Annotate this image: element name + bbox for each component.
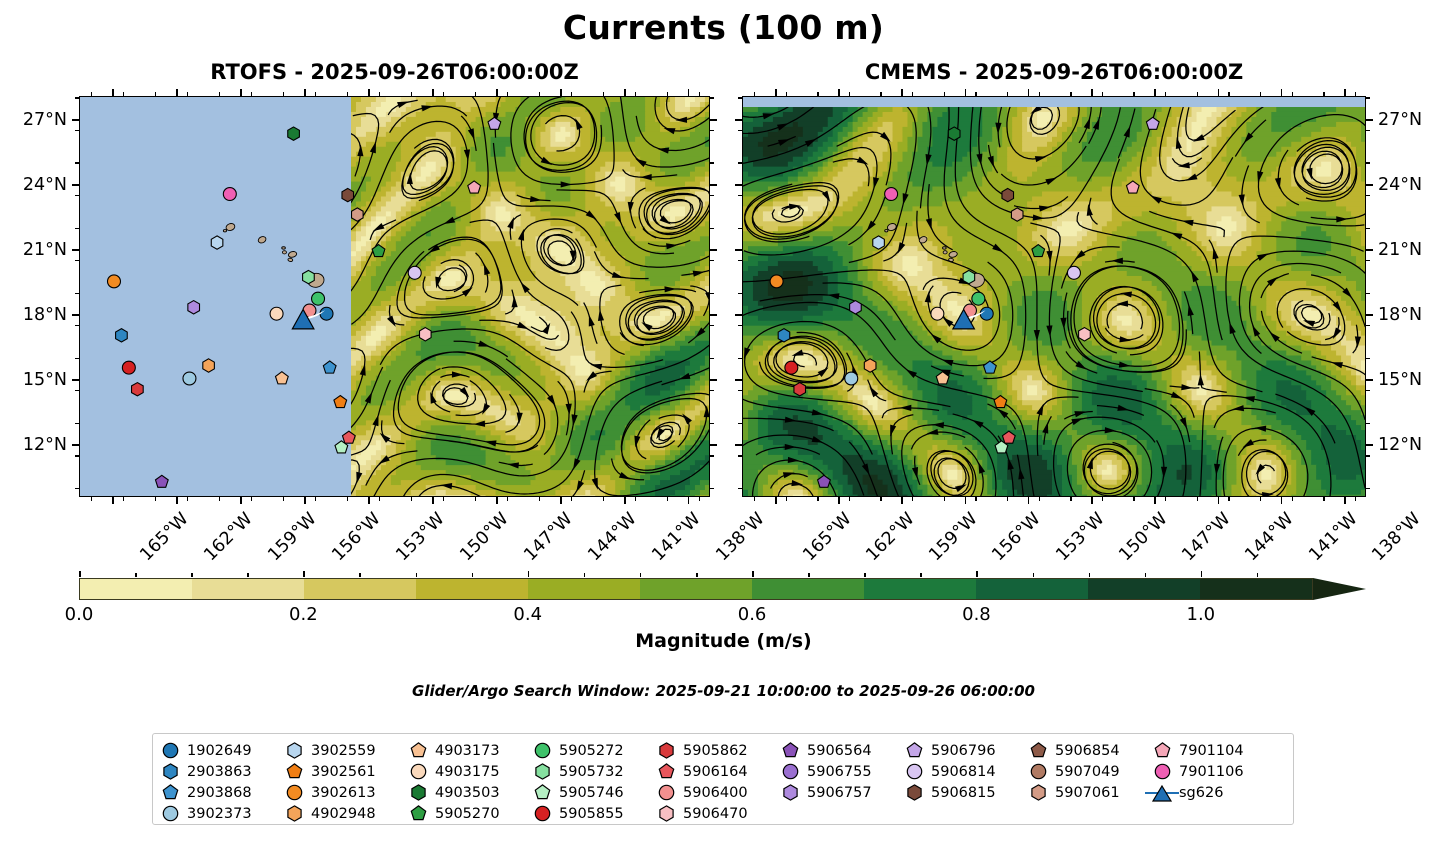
float-legend[interactable]: 1902649290386329038683902373390255939025…: [152, 733, 1294, 825]
y-tick-minor: [75, 260, 79, 261]
argo-marker[interactable]: [1002, 188, 1014, 201]
x-tick-minor: [507, 92, 508, 96]
argo-marker[interactable]: [778, 329, 790, 342]
argo-marker[interactable]: [188, 301, 200, 314]
argo-marker[interactable]: [1067, 266, 1080, 279]
legend-marker-icon: [277, 804, 311, 823]
legend-marker-icon: [897, 762, 931, 781]
y-tick-minor: [710, 195, 714, 196]
legend-label: 4902948: [311, 806, 376, 822]
legend-entry[interactable]: 5906854: [1021, 740, 1145, 761]
legend-entry[interactable]: 2903868: [153, 782, 277, 803]
x-tick-minor: [1039, 497, 1040, 501]
y-tick-major: [710, 184, 717, 186]
argo-marker[interactable]: [342, 431, 355, 443]
argo-marker[interactable]: [183, 372, 196, 385]
legend-entry[interactable]: 5906796: [897, 740, 1021, 761]
colorbar-tick-label: 1.0: [1186, 604, 1215, 625]
argo-marker[interactable]: [1079, 328, 1091, 341]
colorbar-tick-minor: [640, 573, 642, 577]
colorbar-tick-minor: [696, 573, 698, 577]
legend-column: 590679659068145906815: [897, 740, 1021, 824]
argo-marker[interactable]: [794, 383, 806, 396]
x-tick-minor: [635, 497, 636, 501]
legend-label: 2903868: [187, 785, 252, 801]
y-tick-minor: [75, 195, 79, 196]
argo-marker[interactable]: [972, 292, 985, 305]
y-tick-minor: [738, 195, 742, 196]
legend-entry[interactable]: 5906814: [897, 761, 1021, 782]
argo-marker[interactable]: [275, 372, 288, 384]
legend-entry[interactable]: 3902373: [153, 803, 277, 824]
y-tick-minor: [710, 358, 714, 359]
y-tick-minor: [75, 455, 79, 456]
x-tick-minor: [539, 92, 540, 96]
argo-marker[interactable]: [303, 270, 315, 283]
x-tick-major: [1091, 497, 1093, 504]
legend-marker-icon: [649, 783, 683, 802]
legend-entry[interactable]: 5905855: [525, 803, 649, 824]
legend-marker-icon: [773, 741, 807, 760]
x-tick-major: [240, 89, 242, 96]
legend-entry[interactable]: 3902561: [277, 761, 401, 782]
legend-marker-icon: [401, 804, 435, 823]
y-tick-label: 21°N: [1378, 240, 1422, 260]
legend-label: 5905862: [683, 743, 748, 759]
x-tick-minor: [1355, 497, 1356, 501]
x-tick-minor: [667, 92, 668, 96]
y-tick-minor: [710, 455, 714, 456]
argo-marker[interactable]: [785, 361, 798, 374]
x-tick-minor: [699, 497, 700, 501]
legend-label: 3902559: [311, 743, 376, 759]
x-tick-minor: [1102, 92, 1103, 96]
argo-marker[interactable]: [211, 236, 223, 249]
legend-entry[interactable]: 5905270: [401, 803, 525, 824]
y-tick-minor: [738, 293, 742, 294]
y-tick-minor: [738, 260, 742, 261]
legend-entry[interactable]: 2903863: [153, 761, 277, 782]
legend-column: 590685459070495907061: [1021, 740, 1145, 824]
y-tick-minor: [1366, 455, 1370, 456]
legend-marker-icon: [525, 804, 559, 823]
argo-marker[interactable]: [984, 361, 997, 373]
legend-label: 5906470: [683, 806, 748, 822]
legend-label: 5906814: [931, 764, 996, 780]
map-panel-cmems[interactable]: [742, 96, 1366, 497]
y-tick-minor: [738, 325, 742, 326]
x-tick-label: 162°W: [200, 509, 256, 565]
x-tick-label: 144°W: [584, 509, 640, 565]
colorbar-tick-minor: [808, 573, 810, 577]
x-tick-label: 165°W: [799, 509, 855, 565]
legend-entry[interactable]: 5906470: [649, 803, 773, 824]
legend-marker-icon: [277, 762, 311, 781]
y-tick-minor: [738, 423, 742, 424]
legend-marker-icon: [153, 783, 187, 802]
legend-label: 4903503: [435, 785, 500, 801]
y-tick-major: [710, 314, 717, 316]
x-tick-minor: [443, 497, 444, 501]
x-tick-minor: [283, 497, 284, 501]
x-tick-minor: [411, 92, 412, 96]
argo-marker[interactable]: [994, 396, 1007, 408]
x-tick-label: 144°W: [1242, 509, 1298, 565]
y-tick-major: [1366, 444, 1373, 446]
legend-marker-icon: [649, 762, 683, 781]
argo-marker[interactable]: [132, 383, 144, 396]
legend-column: 5905272590573259057465905855: [525, 740, 649, 824]
argo-marker[interactable]: [885, 188, 898, 201]
legend-label: 5905732: [559, 764, 624, 780]
legend-label: 4903175: [435, 764, 500, 780]
legend-entry[interactable]: 4903503: [401, 782, 525, 803]
map-panel-rtofs[interactable]: [79, 96, 710, 497]
argo-marker[interactable]: [312, 292, 325, 305]
legend-marker-icon: [153, 762, 187, 781]
legend-marker-icon: [897, 741, 931, 760]
x-tick-minor: [283, 92, 284, 96]
x-tick-minor: [1260, 497, 1261, 501]
legend-marker-icon: [525, 741, 559, 760]
argo-marker[interactable]: [488, 117, 501, 129]
y-tick-major: [1366, 379, 1373, 381]
y-tick-label: 27°N: [1378, 110, 1422, 130]
argo-marker[interactable]: [1032, 245, 1045, 257]
argo-marker[interactable]: [420, 328, 432, 341]
x-tick-minor: [667, 497, 668, 501]
legend-marker-icon: [1021, 741, 1055, 760]
colorbar-tick: [1201, 571, 1203, 577]
y-tick-minor: [1366, 293, 1370, 294]
legend-column: 79011047901106sg626: [1145, 740, 1271, 824]
colorbar-tick-minor: [864, 573, 866, 577]
figure-root: Currents (100 m) RTOFS - 2025-09-26T06:0…: [0, 0, 1447, 863]
legend-entry[interactable]: 5905746: [525, 782, 649, 803]
y-tick-minor: [710, 260, 714, 261]
legend-entry[interactable]: 5905272: [525, 740, 649, 761]
legend-entry[interactable]: 3902559: [277, 740, 401, 761]
colorbar-band: [304, 579, 416, 599]
y-tick-minor: [710, 293, 714, 294]
colorbar-tick-minor: [1145, 573, 1147, 577]
x-tick-minor: [1102, 497, 1103, 501]
legend-label: 3902373: [187, 806, 252, 822]
legend-entry[interactable]: 5907049: [1021, 761, 1145, 782]
colorbar-band: [864, 579, 976, 599]
y-tick-minor: [1366, 97, 1370, 98]
argo-marker[interactable]: [845, 372, 858, 385]
colorbar-band: [528, 579, 640, 599]
y-tick-label: 21°N: [0, 240, 67, 260]
legend-marker-icon: [649, 804, 683, 823]
argo-marker[interactable]: [936, 372, 949, 384]
x-tick-major: [965, 497, 967, 504]
y-tick-minor: [710, 228, 714, 229]
legend-label: 3902561: [311, 764, 376, 780]
y-tick-major: [735, 314, 742, 316]
argo-marker[interactable]: [963, 270, 975, 283]
argo-marker[interactable]: [980, 307, 993, 320]
x-tick-minor: [849, 92, 850, 96]
x-tick-minor: [1355, 92, 1356, 96]
x-tick-minor: [635, 92, 636, 96]
colorbar-tick-label: 0.4: [513, 604, 542, 625]
x-tick-label: 138°W: [1368, 509, 1424, 565]
x-tick-label: 159°W: [264, 509, 320, 565]
x-tick-major: [560, 497, 562, 504]
argo-marker[interactable]: [931, 307, 944, 320]
x-tick-major: [368, 497, 370, 504]
colorbar-body: [79, 578, 1313, 600]
legend-entry[interactable]: 5906815: [897, 782, 1021, 803]
legend-entry[interactable]: 5906564: [773, 740, 897, 761]
x-tick-major: [1028, 89, 1030, 96]
y-tick-label: 24°N: [0, 175, 67, 195]
y-tick-minor: [75, 358, 79, 359]
argo-marker[interactable]: [408, 266, 421, 279]
argo-marker[interactable]: [108, 275, 121, 288]
x-tick-minor: [603, 92, 604, 96]
legend-entry[interactable]: 7901104: [1145, 740, 1271, 761]
x-tick-minor: [944, 92, 945, 96]
colorbar-tick-minor: [191, 573, 193, 577]
x-tick-minor: [1292, 92, 1293, 96]
x-tick-minor: [1228, 497, 1229, 501]
y-tick-major: [72, 249, 79, 251]
argo-marker[interactable]: [1126, 181, 1139, 193]
y-tick-minor: [738, 390, 742, 391]
argo-marker[interactable]: [770, 275, 783, 288]
y-tick-minor: [1366, 488, 1370, 489]
y-tick-major: [72, 119, 79, 121]
colorbar-tick: [752, 571, 754, 577]
x-tick-major: [965, 89, 967, 96]
argo-marker[interactable]: [468, 181, 481, 193]
legend-label: 5907049: [1055, 764, 1120, 780]
y-tick-minor: [75, 325, 79, 326]
x-tick-major: [1028, 497, 1030, 504]
x-tick-major: [1281, 497, 1283, 504]
legend-entry[interactable]: 5905732: [525, 761, 649, 782]
x-tick-label: 159°W: [926, 509, 982, 565]
x-tick-major: [901, 89, 903, 96]
legend-label: 5906755: [807, 764, 872, 780]
y-tick-major: [710, 249, 717, 251]
legend-label: 5907061: [1055, 785, 1120, 801]
glider-track-icon: [1145, 784, 1179, 802]
argo-marker[interactable]: [223, 188, 236, 201]
colorbar-tick-minor: [247, 573, 249, 577]
legend-label: 5905746: [559, 785, 624, 801]
x-tick-major: [176, 497, 178, 504]
x-tick-minor: [1165, 92, 1166, 96]
legend-entry[interactable]: 5906400: [649, 782, 773, 803]
legend-column: 4903173490317549035035905270: [401, 740, 525, 824]
legend-entry[interactable]: 3902613: [277, 782, 401, 803]
y-tick-minor: [75, 488, 79, 489]
x-tick-major: [112, 89, 114, 96]
legend-entry[interactable]: sg626: [1145, 782, 1271, 803]
y-tick-major: [72, 379, 79, 381]
argo-marker[interactable]: [323, 361, 336, 373]
x-tick-minor: [880, 92, 881, 96]
x-tick-minor: [1323, 92, 1324, 96]
colorbar-tick-minor: [359, 573, 361, 577]
colorbar-tick: [79, 571, 81, 577]
marker-overlay-cmems: [743, 97, 1365, 496]
argo-marker[interactable]: [1146, 117, 1159, 129]
argo-marker[interactable]: [320, 307, 333, 320]
argo-marker[interactable]: [948, 127, 960, 140]
legend-entry[interactable]: 1902649: [153, 740, 277, 761]
page-title: Currents (100 m): [0, 8, 1447, 47]
x-tick-major: [1281, 89, 1283, 96]
x-tick-minor: [443, 92, 444, 96]
x-tick-minor: [507, 497, 508, 501]
y-tick-minor: [710, 130, 714, 131]
legend-marker-icon: [401, 783, 435, 802]
legend-entry[interactable]: 5906757: [773, 782, 897, 803]
x-tick-major: [112, 497, 114, 504]
legend-entry[interactable]: 5906755: [773, 761, 897, 782]
x-tick-minor: [315, 92, 316, 96]
x-tick-major: [176, 89, 178, 96]
x-tick-minor: [1260, 92, 1261, 96]
legend-marker-icon: [525, 762, 559, 781]
legend-label: 7901106: [1179, 764, 1244, 780]
colorbar[interactable]: 0.00.20.40.60.81.0: [79, 578, 1366, 600]
argo-marker[interactable]: [334, 396, 347, 408]
colorbar-tick-minor: [1257, 573, 1259, 577]
colorbar-tick-minor: [135, 573, 137, 577]
x-tick-minor: [571, 497, 572, 501]
y-tick-minor: [738, 130, 742, 131]
argo-marker[interactable]: [352, 208, 364, 221]
legend-label: 5906164: [683, 764, 748, 780]
x-tick-major: [304, 89, 306, 96]
x-tick-minor: [155, 92, 156, 96]
y-tick-major: [1366, 119, 1373, 121]
y-tick-major: [735, 379, 742, 381]
colorbar-band: [192, 579, 304, 599]
y-tick-minor: [1366, 195, 1370, 196]
x-tick-minor: [1228, 92, 1229, 96]
y-tick-minor: [738, 455, 742, 456]
legend-label: 4903173: [435, 743, 500, 759]
y-tick-label: 18°N: [1378, 305, 1422, 325]
x-tick-major: [838, 89, 840, 96]
x-tick-minor: [219, 497, 220, 501]
y-tick-label: 18°N: [0, 305, 67, 325]
argo-marker[interactable]: [1002, 431, 1015, 443]
x-tick-minor: [1133, 497, 1134, 501]
legend-label: 3902613: [311, 785, 376, 801]
legend-label: 5906400: [683, 785, 748, 801]
y-tick-label: 15°N: [0, 370, 67, 390]
x-tick-minor: [539, 497, 540, 501]
y-tick-major: [735, 119, 742, 121]
colorbar-band: [976, 579, 1088, 599]
legend-entry[interactable]: 5906164: [649, 761, 773, 782]
legend-entry[interactable]: 5905862: [649, 740, 773, 761]
legend-marker-icon: [277, 741, 311, 760]
y-tick-minor: [1366, 228, 1370, 229]
x-tick-major: [560, 89, 562, 96]
y-tick-major: [735, 249, 742, 251]
x-tick-minor: [475, 92, 476, 96]
x-tick-label: 147°W: [520, 509, 576, 565]
colorbar-tick-minor: [416, 573, 418, 577]
legend-column: 5905862590616459064005906470: [649, 740, 773, 824]
x-tick-major: [1344, 89, 1346, 96]
argo-marker[interactable]: [818, 475, 831, 487]
y-tick-minor: [1366, 260, 1370, 261]
x-tick-label: 150°W: [1115, 509, 1171, 565]
argo-marker[interactable]: [155, 475, 168, 487]
argo-marker[interactable]: [372, 245, 385, 257]
legend-marker-icon: [1145, 741, 1179, 760]
x-tick-minor: [1007, 92, 1008, 96]
argo-marker[interactable]: [1011, 208, 1023, 221]
x-tick-major: [1218, 497, 1220, 504]
search-window-caption: Glider/Argo Search Window: 2025-09-21 10…: [0, 682, 1447, 700]
x-tick-label: 141°W: [648, 509, 704, 565]
x-tick-major: [624, 89, 626, 96]
x-tick-major: [688, 497, 690, 504]
legend-entry[interactable]: 5907061: [1021, 782, 1145, 803]
x-tick-minor: [817, 92, 818, 96]
y-tick-minor: [710, 325, 714, 326]
argo-marker[interactable]: [203, 359, 215, 372]
colorbar-tick-label: 0.0: [65, 604, 94, 625]
y-tick-major: [735, 444, 742, 446]
argo-marker[interactable]: [850, 301, 862, 314]
legend-entry[interactable]: 4903175: [401, 761, 525, 782]
argo-marker[interactable]: [270, 307, 283, 320]
y-tick-major: [72, 184, 79, 186]
x-tick-major: [368, 89, 370, 96]
x-tick-major: [1154, 497, 1156, 504]
x-tick-major: [432, 89, 434, 96]
legend-entry[interactable]: 7901106: [1145, 761, 1271, 782]
legend-entry[interactable]: 4902948: [277, 803, 401, 824]
x-tick-minor: [123, 497, 124, 501]
y-tick-minor: [710, 423, 714, 424]
argo-marker[interactable]: [116, 329, 128, 342]
argo-marker[interactable]: [873, 236, 885, 249]
argo-marker[interactable]: [864, 359, 876, 372]
legend-column: 590656459067555906757: [773, 740, 897, 824]
legend-marker-icon: [897, 783, 931, 802]
legend-marker-icon: [1145, 762, 1179, 781]
x-tick-minor: [155, 497, 156, 501]
y-tick-major: [72, 444, 79, 446]
x-tick-minor: [754, 92, 755, 96]
legend-entry[interactable]: 4903173: [401, 740, 525, 761]
legend-marker-icon: [153, 804, 187, 823]
legend-marker-icon: [1145, 784, 1179, 802]
argo-marker[interactable]: [122, 361, 135, 374]
colorbar-tick-label: 0.2: [289, 604, 318, 625]
x-tick-major: [901, 497, 903, 504]
colorbar-band: [80, 579, 192, 599]
argo-marker[interactable]: [288, 127, 300, 140]
argo-marker[interactable]: [342, 188, 354, 201]
y-tick-minor: [75, 130, 79, 131]
colorbar-tick-minor: [472, 573, 474, 577]
legend-column: 1902649290386329038683902373: [153, 740, 277, 824]
